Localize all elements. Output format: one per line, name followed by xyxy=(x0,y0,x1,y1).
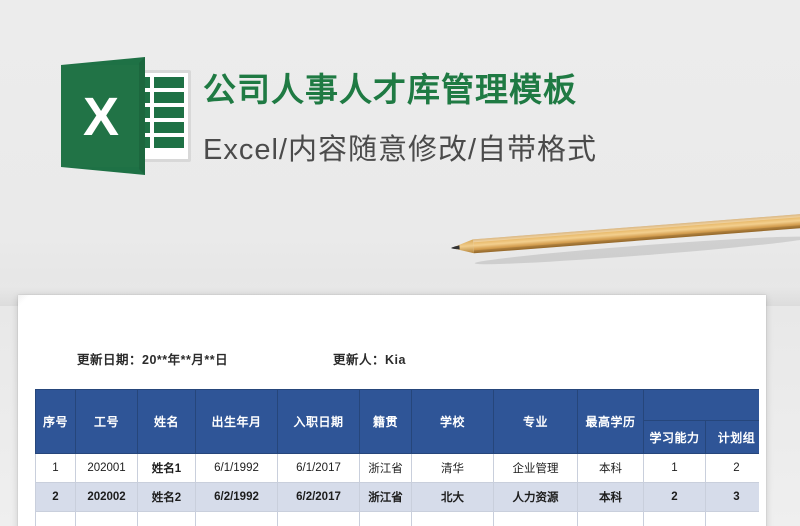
cell-name[interactable]: 姓名2 xyxy=(138,483,196,512)
cell-major[interactable] xyxy=(494,512,578,526)
cell-major[interactable]: 人力资源 xyxy=(494,483,578,512)
table-body: 1 202001 姓名1 6/1/1992 6/1/2017 浙江省 清华 企业… xyxy=(36,454,760,526)
cell-seq[interactable] xyxy=(36,512,76,526)
update-date-label: 更新日期：20**年**月**日 xyxy=(77,349,228,368)
cell-degree[interactable]: 本科 xyxy=(578,454,644,483)
excel-logo-icon: X xyxy=(57,57,194,175)
page-title: 公司人事人才库管理模板 xyxy=(203,69,577,111)
cell-seq[interactable]: 1 xyxy=(36,454,76,483)
spreadsheet-sheet: 更新日期：20**年**月**日 更新人：Kia 序号 工号 xyxy=(25,301,759,526)
cell-emp-no[interactable]: 202001 xyxy=(76,454,138,483)
cell-learning[interactable]: 2 xyxy=(644,483,706,512)
employee-table-wrapper[interactable]: 序号 工号 姓名 出生年月 入职日期 籍贯 学校 专业 最高学历 xyxy=(35,389,759,526)
table-row[interactable] xyxy=(36,512,760,526)
col-header-seq[interactable]: 序号 xyxy=(36,390,76,454)
spreadsheet-card: 更新日期：20**年**月**日 更新人：Kia 序号 工号 xyxy=(18,295,766,526)
cell-seq[interactable]: 2 xyxy=(36,483,76,512)
cell-hire[interactable] xyxy=(278,512,360,526)
cell-hire[interactable]: 6/1/2017 xyxy=(278,454,360,483)
cell-planning[interactable]: 2 xyxy=(706,454,760,483)
cell-origin[interactable] xyxy=(360,512,412,526)
cell-name[interactable] xyxy=(138,512,196,526)
employee-table: 序号 工号 姓名 出生年月 入职日期 籍贯 学校 专业 最高学历 xyxy=(35,389,759,526)
cell-emp-no[interactable]: 202002 xyxy=(76,483,138,512)
col-header-ability-group[interactable] xyxy=(644,390,760,421)
cell-planning[interactable]: 3 xyxy=(706,483,760,512)
table-header: 序号 工号 姓名 出生年月 入职日期 籍贯 学校 专业 最高学历 xyxy=(36,390,760,454)
screenshot-root: X 公司人事人才库管理模板 Excel/内容随意修改/自带格式 xyxy=(0,0,800,526)
cell-learning[interactable] xyxy=(644,512,706,526)
sheet-meta-row: 更新日期：20**年**月**日 更新人：Kia xyxy=(25,349,759,373)
cell-origin[interactable]: 浙江省 xyxy=(360,454,412,483)
col-header-birth[interactable]: 出生年月 xyxy=(196,390,278,454)
cell-learning[interactable]: 1 xyxy=(644,454,706,483)
table-row[interactable]: 1 202001 姓名1 6/1/1992 6/1/2017 浙江省 清华 企业… xyxy=(36,454,760,483)
cell-planning[interactable] xyxy=(706,512,760,526)
table-row[interactable]: 2 202002 姓名2 6/2/1992 6/2/2017 浙江省 北大 人力… xyxy=(36,483,760,512)
col-header-hire[interactable]: 入职日期 xyxy=(278,390,360,454)
page-subtitle: Excel/内容随意修改/自带格式 xyxy=(203,131,597,169)
excel-logo-letter: X xyxy=(83,87,119,147)
updater-label: 更新人：Kia xyxy=(333,349,406,368)
cell-emp-no[interactable] xyxy=(76,512,138,526)
col-header-emp-no[interactable]: 工号 xyxy=(76,390,138,454)
col-header-degree[interactable]: 最高学历 xyxy=(578,390,644,454)
cell-hire[interactable]: 6/2/2017 xyxy=(278,483,360,512)
table-header-row-1: 序号 工号 姓名 出生年月 入职日期 籍贯 学校 专业 最高学历 xyxy=(36,390,760,421)
cell-name[interactable]: 姓名1 xyxy=(138,454,196,483)
cell-origin[interactable]: 浙江省 xyxy=(360,483,412,512)
col-header-name[interactable]: 姓名 xyxy=(138,390,196,454)
cell-degree[interactable] xyxy=(578,512,644,526)
cell-school[interactable]: 北大 xyxy=(412,483,494,512)
banner: X 公司人事人才库管理模板 Excel/内容随意修改/自带格式 xyxy=(0,0,800,250)
cell-birth[interactable] xyxy=(196,512,278,526)
col-header-learning[interactable]: 学习能力 xyxy=(644,421,706,454)
cell-major[interactable]: 企业管理 xyxy=(494,454,578,483)
col-header-planning[interactable]: 计划组 xyxy=(706,421,760,454)
cell-school[interactable] xyxy=(412,512,494,526)
cell-birth[interactable]: 6/1/1992 xyxy=(196,454,278,483)
col-header-school[interactable]: 学校 xyxy=(412,390,494,454)
col-header-origin[interactable]: 籍贯 xyxy=(360,390,412,454)
cell-degree[interactable]: 本科 xyxy=(578,483,644,512)
cell-birth[interactable]: 6/2/1992 xyxy=(196,483,278,512)
cell-school[interactable]: 清华 xyxy=(412,454,494,483)
col-header-major[interactable]: 专业 xyxy=(494,390,578,454)
